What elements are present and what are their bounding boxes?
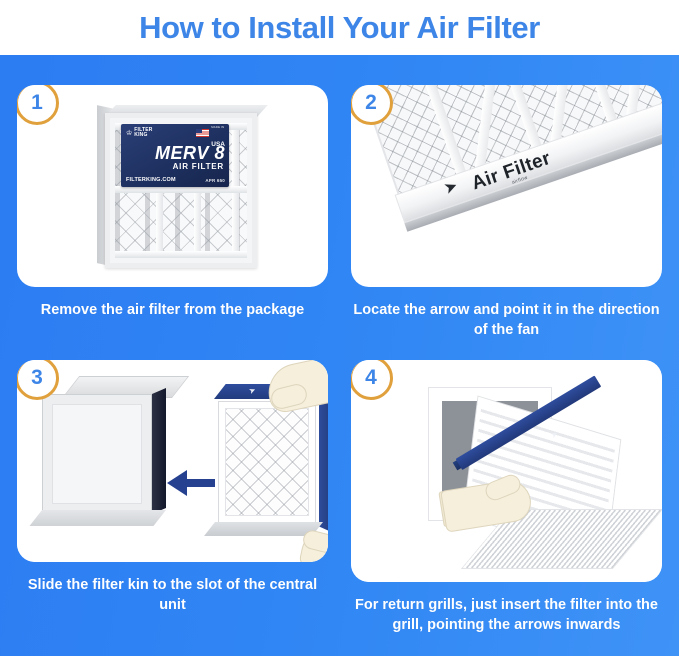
air-filter-product-photo: ♔ FILTER KING <box>97 103 267 273</box>
step-card-2: ➤ Air Filter airflow 2 Locate the arrow … <box>351 85 662 340</box>
step-4-caption: For return grills, just insert the filte… <box>351 595 662 635</box>
step-3-artwork: ➤ <box>17 360 328 562</box>
label-footer-row: FILTERKING.COM APR 650 <box>126 177 225 183</box>
step-1-caption: Remove the air filter from the package <box>17 300 328 320</box>
filter-pleat-rib <box>421 85 470 185</box>
hand-upper <box>267 360 328 418</box>
arrow-shaft <box>185 479 217 487</box>
filter-being-inserted: ➤ <box>443 404 603 554</box>
step-1-image-card: ♔ FILTER KING <box>17 85 328 287</box>
infographic-page: How to Install Your Air Filter <box>0 0 679 656</box>
step-4-image-card: ➤ 4 <box>351 360 662 582</box>
filter-product-label: ♔ FILTER KING <box>121 124 229 187</box>
filter-support-rail <box>115 186 247 193</box>
central-unit-slot <box>42 394 152 514</box>
step-card-3: ➤ 3 Slide the filter kin to the sl <box>17 360 328 615</box>
header-bar: How to Install Your Air Filter <box>0 0 679 55</box>
filter-right-edge <box>318 398 328 534</box>
central-unit-base <box>29 510 166 526</box>
step-card-1: ♔ FILTER KING <box>17 85 328 320</box>
slot-opening <box>52 404 142 504</box>
label-brand-row: ♔ FILTER KING <box>126 127 225 139</box>
product-type-text: AIR FILTER <box>121 162 224 171</box>
brand-name: FILTER KING <box>134 128 152 139</box>
steps-grid: ♔ FILTER KING <box>0 55 679 656</box>
airflow-arrow-icon: ➤ <box>549 429 559 440</box>
made-in-text: MADE IN <box>211 125 224 129</box>
merv-rating: MERV 8 <box>121 144 225 162</box>
step-1-artwork: ♔ FILTER KING <box>17 85 328 287</box>
central-unit-side <box>152 388 166 514</box>
hand-lower <box>301 532 328 562</box>
step-2-image-card: ➤ Air Filter airflow 2 <box>351 85 662 287</box>
step-2-artwork: ➤ Air Filter airflow <box>351 85 662 287</box>
apr-rating-text: APR 650 <box>205 178 225 183</box>
filter-support-rail <box>115 251 247 258</box>
filter-rotated-group: ➤ Air Filter airflow <box>361 85 662 287</box>
step-3-image-card: ➤ 3 <box>17 360 328 562</box>
filter-being-inserted: ➤ <box>215 380 328 555</box>
filter-front-face: ♔ FILTER KING <box>105 113 257 268</box>
slide-direction-arrow-icon <box>167 470 217 496</box>
page-title: How to Install Your Air Filter <box>139 10 540 46</box>
usa-flag-icon <box>196 129 209 137</box>
step-2-caption: Locate the arrow and point it in the dir… <box>351 300 662 340</box>
filter-pleated-media <box>225 408 309 516</box>
hand-inserting-filter <box>443 476 535 538</box>
step-4-artwork: ➤ <box>351 360 662 582</box>
filter-corner-closeup: ➤ Air Filter airflow <box>351 85 662 287</box>
arrow-head <box>167 470 187 496</box>
step-3-caption: Slide the filter kin to the slot of the … <box>17 575 328 615</box>
filter-king-logo: ♔ FILTER KING <box>126 128 153 139</box>
crown-icon: ♔ <box>126 130 132 137</box>
brand-line-2: KING <box>134 132 147 138</box>
website-text: FILTERKING.COM <box>126 177 176 183</box>
step-card-4: ➤ 4 For return grills, just insert the f… <box>351 360 662 635</box>
